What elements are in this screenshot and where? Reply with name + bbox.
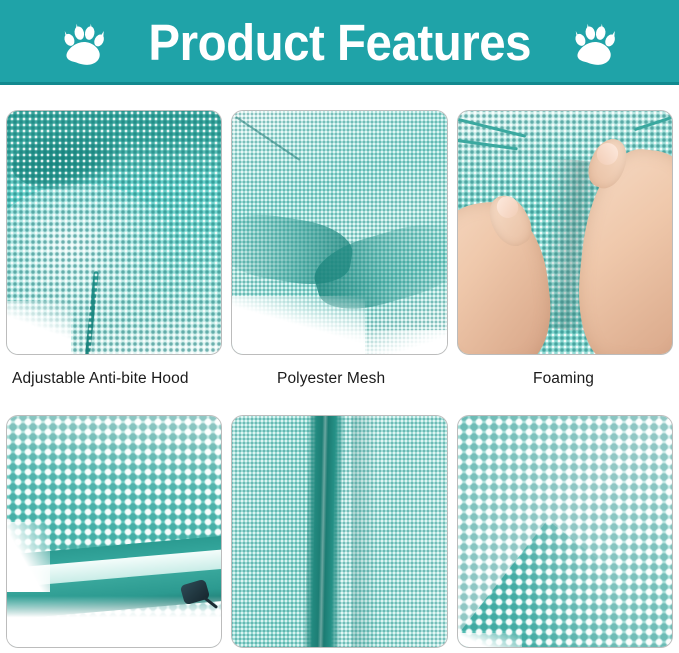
- feature-panel-polyester-mesh[interactable]: [231, 110, 448, 355]
- paw-print-icon: [569, 17, 621, 69]
- feature-panel-foaming[interactable]: [457, 110, 673, 355]
- feature-image-drawstring-bag: [7, 416, 221, 647]
- feature-image-polyester-mesh: [232, 111, 447, 354]
- feature-caption-foaming: Foaming: [533, 370, 594, 388]
- feature-image-foaming: [458, 111, 672, 354]
- feature-panel-drawstring-bag[interactable]: [6, 415, 222, 648]
- page-title: Product Features: [148, 17, 531, 68]
- feature-caption-adjustable-anti-bite-hood: Adjustable Anti-bite Hood: [12, 370, 189, 388]
- page-header: Product Features: [0, 0, 679, 85]
- feature-image-adjustable-anti-bite-hood: [7, 111, 221, 354]
- feature-panel-center-seam[interactable]: [231, 415, 448, 648]
- paw-print-icon: [58, 17, 110, 69]
- feature-image-mesh-closeup: [458, 416, 672, 647]
- feature-grid: Adjustable Anti-bite Hood Polyester Mesh…: [0, 85, 679, 653]
- feature-panel-mesh-closeup[interactable]: [457, 415, 673, 648]
- feature-caption-polyester-mesh: Polyester Mesh: [277, 370, 385, 388]
- feature-panel-adjustable-anti-bite-hood[interactable]: [6, 110, 222, 355]
- feature-image-center-seam: [232, 416, 447, 647]
